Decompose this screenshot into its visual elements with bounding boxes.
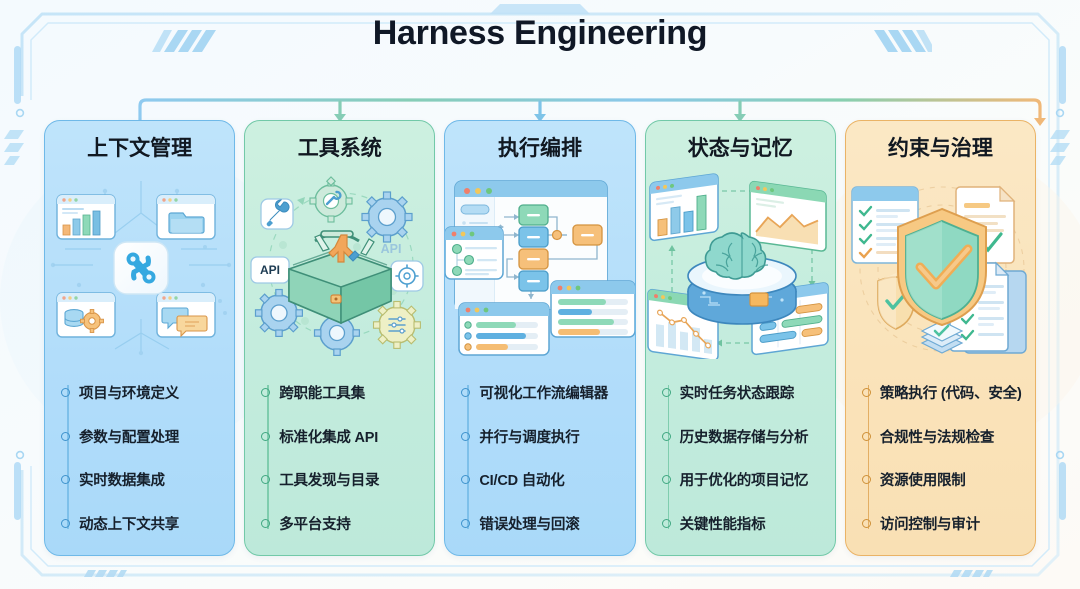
pillar-card-execution-orchestration[interactable]: 执行编排 [444,120,635,556]
list-item[interactable]: 实时任务状态跟踪 [662,382,827,403]
list-item[interactable]: 动态上下文共享 [61,513,226,534]
page-title: Harness Engineering [0,14,1080,53]
api-text-right: API [381,242,402,256]
pillar-card-context-management[interactable]: 上下文管理 [44,120,235,556]
central-hub-logo [114,242,168,294]
item-spine [467,385,469,529]
pillar-title-execution-orchestration: 执行编排 [445,121,634,173]
bullet-icon [61,475,70,484]
list-item[interactable]: 访问控制与审计 [862,513,1027,534]
list-item[interactable]: 合规性与法规检查 [862,426,1027,447]
pillar-title-tool-system: 工具系统 [245,121,434,173]
item-spine [67,385,69,529]
bullet-icon [261,519,270,528]
pillar-card-tool-system[interactable]: 工具系统 [244,120,435,556]
wrench-card [261,199,293,229]
folder-window [157,195,215,239]
chat-bubbles-window [157,293,215,337]
progress-window-right [551,281,634,337]
toolbox [289,231,391,323]
pillar-title-state-and-memory: 状态与记忆 [646,121,835,173]
pillar-items-state-and-memory: 实时任务状态跟踪 历史数据存储与分析 用于优化的项目记忆 关键性能指标 [646,359,835,555]
infographic-canvas: Harness Engineering [0,0,1080,589]
toolbox-gears-illustration: API API [245,173,434,359]
pillar-columns: 上下文管理 [44,120,1036,556]
list-item[interactable]: 参数与配置处理 [61,426,226,447]
pillar-items-execution-orchestration: 可视化工作流编辑器 并行与调度执行 CI/CD 自动化 错误处理与回滚 [445,359,634,555]
list-item[interactable]: 关键性能指标 [662,513,827,534]
api-card-left: API [251,257,289,283]
pillar-card-state-and-memory[interactable]: 状态与记忆 [645,120,836,556]
database-gear-window [57,293,115,337]
workflow-editor-illustration [445,173,634,359]
bullet-icon [862,519,871,528]
list-item[interactable]: 可视化工作流编辑器 [461,382,626,403]
bullet-icon [61,519,70,528]
bullet-icon [862,475,871,484]
gear-wrench [310,177,352,222]
bullet-icon [61,432,70,441]
pillar-items-constraints-and-governance: 策略执行 (代码、安全) 合规性与法规检查 资源使用限制 访问控制与审计 [846,359,1035,555]
bullet-icon [662,475,671,484]
bullet-icon [862,432,871,441]
brain-memory-store-illustration [646,173,835,359]
pillar-title-context-management: 上下文管理 [45,121,234,173]
list-item[interactable]: 跨职能工具集 [261,382,426,403]
area-chart-window [750,181,826,252]
bullet-icon [461,519,470,528]
bullet-icon [461,475,470,484]
list-item[interactable]: 标准化集成 API [261,426,426,447]
list-item[interactable]: 并行与调度执行 [461,426,626,447]
shield-compliance-illustration [846,173,1035,359]
list-item[interactable]: 多平台支持 [261,513,426,534]
bullet-icon [261,388,270,397]
large-shield-check [898,209,986,325]
list-item[interactable]: 项目与环境定义 [61,382,226,403]
bullet-icon [61,388,70,397]
pillar-card-constraints-and-governance[interactable]: 约束与治理 [845,120,1036,556]
task-list-window [445,227,503,279]
bar-chart-window [57,195,115,239]
list-item[interactable]: 实时数据集成 [61,469,226,490]
bullet-icon [461,432,470,441]
item-spine [668,385,670,529]
bullet-icon [662,388,671,397]
context-hub-windows-illustration [45,173,234,359]
page-title-wrap: Harness Engineering [0,14,1080,53]
list-item[interactable]: 用于优化的项目记忆 [662,469,827,490]
bar-chart-window [650,173,718,241]
bullet-icon [261,475,270,484]
list-item[interactable]: CI/CD 自动化 [461,469,626,490]
bullet-icon [261,432,270,441]
progress-window-bottom [459,303,549,355]
list-item[interactable]: 错误处理与回滚 [461,513,626,534]
item-spine [267,385,269,529]
pillar-items-tool-system: 跨职能工具集 标准化集成 API 工具发现与目录 多平台支持 [245,359,434,555]
list-item[interactable]: 历史数据存储与分析 [662,426,827,447]
gear-settings-card [391,261,423,291]
item-spine [868,385,870,529]
pillar-items-context-management: 项目与环境定义 参数与配置处理 实时数据集成 动态上下文共享 [45,359,234,555]
bullet-icon [662,519,671,528]
svg-text:API: API [260,263,280,277]
pillar-title-constraints-and-governance: 约束与治理 [846,121,1035,173]
bullet-icon [662,432,671,441]
list-item[interactable]: 资源使用限制 [862,469,1027,490]
list-item[interactable]: 工具发现与目录 [261,469,426,490]
bullet-icon [461,388,470,397]
list-item[interactable]: 策略执行 (代码、安全) [862,382,1027,403]
bullet-icon [862,388,871,397]
